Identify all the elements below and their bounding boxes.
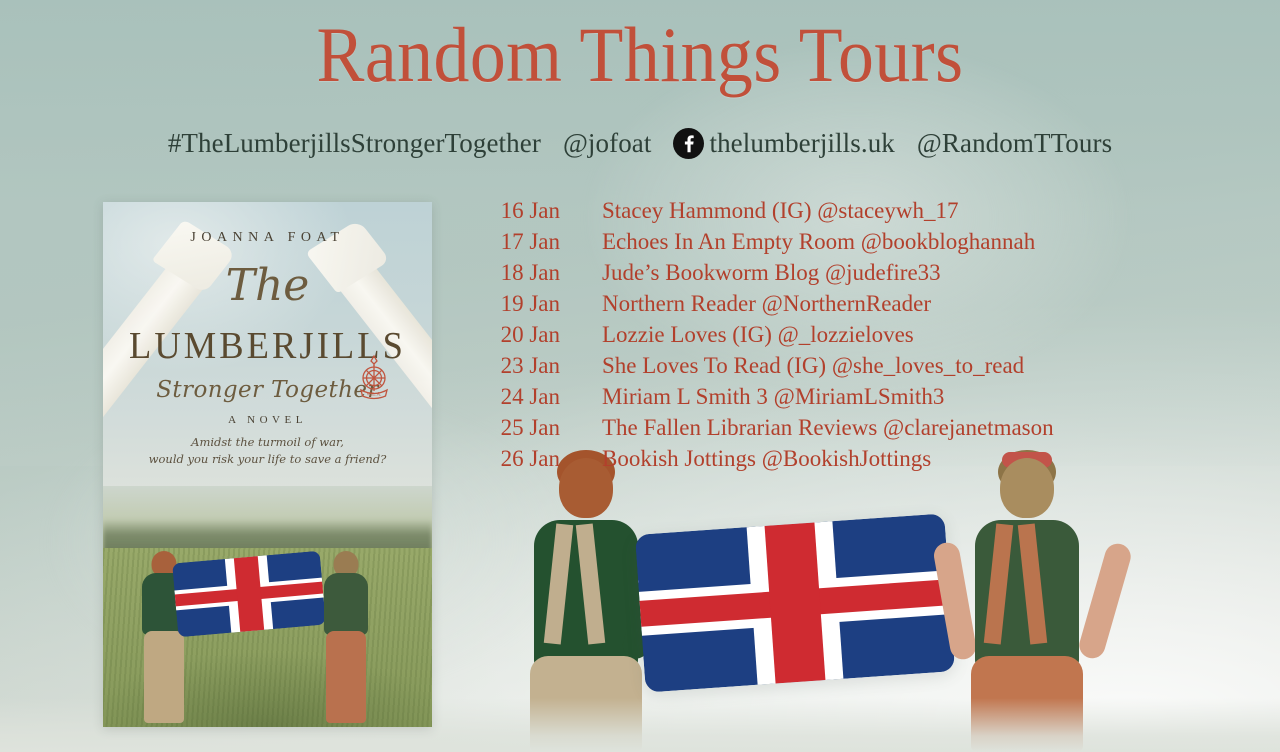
hashtag-label: #TheLumberjillsStrongerTogether — [168, 128, 541, 159]
schedule-blogger: Bookish Jottings @BookishJottings — [602, 446, 931, 472]
page-title: Random Things Tours — [51, 14, 1229, 96]
facebook-link[interactable]: thelumberjills.uk — [673, 128, 894, 159]
facebook-icon — [673, 128, 704, 159]
schedule-blogger: Miriam L Smith 3 @MiriamLSmith3 — [602, 384, 944, 410]
cover-typography: JOANNA FOAT The LUMBERJILLS Stronger Tog… — [103, 202, 432, 727]
union-jack-flag-background — [635, 513, 955, 692]
schedule-row: 23 Jan She Loves To Read (IG) @she_loves… — [486, 353, 1186, 384]
tours-handle[interactable]: @RandomTTours — [917, 128, 1112, 159]
womens-land-army-crest-icon: W.L.A. — [355, 354, 393, 400]
schedule-row: 17 Jan Echoes In An Empty Room @bookblog… — [486, 229, 1186, 260]
book-cover[interactable]: JOANNA FOAT The LUMBERJILLS Stronger Tog… — [103, 202, 432, 727]
schedule-row: 18 Jan Jude’s Bookworm Blog @judefire33 — [486, 260, 1186, 291]
cover-author: JOANNA FOAT — [103, 230, 432, 246]
schedule-blogger: The Fallen Librarian Reviews @clarejanet… — [602, 415, 1054, 441]
schedule-date: 25 Jan — [486, 415, 560, 441]
cover-tagline-line2: would you risk your life to save a frien… — [149, 452, 387, 466]
cover-tagline-line1: Amidst the turmoil of war, — [191, 435, 344, 449]
schedule-row: 26 Jan Bookish Jottings @BookishJottings — [486, 446, 1186, 477]
schedule-date: 23 Jan — [486, 353, 560, 379]
author-handle[interactable]: @jofoat — [563, 128, 652, 159]
svg-text:W.L.A.: W.L.A. — [367, 393, 382, 398]
schedule-row: 19 Jan Northern Reader @NorthernReader — [486, 291, 1186, 322]
schedule-blogger: Stacey Hammond (IG) @staceywh_17 — [602, 198, 959, 224]
cover-title-article: The — [103, 264, 432, 308]
schedule-date: 16 Jan — [486, 198, 560, 224]
schedule-date: 20 Jan — [486, 322, 560, 348]
schedule-blogger: She Loves To Read (IG) @she_loves_to_rea… — [602, 353, 1024, 379]
schedule-blogger: Echoes In An Empty Room @bookbloghannah — [602, 229, 1035, 255]
schedule-blogger: Lozzie Loves (IG) @_lozzieloves — [602, 322, 914, 348]
schedule-row: 20 Jan Lozzie Loves (IG) @_lozzieloves — [486, 322, 1186, 353]
social-handles-bar: #TheLumberjillsStrongerTogether @jofoat … — [0, 128, 1280, 159]
tour-poster: Random Things Tours #TheLumberjillsStron… — [0, 0, 1280, 752]
arm-right — [1076, 541, 1134, 662]
schedule-row: 25 Jan The Fallen Librarian Reviews @cla… — [486, 415, 1186, 446]
schedule-date: 26 Jan — [486, 446, 560, 472]
cover-format-label: A NOVEL — [103, 414, 432, 426]
schedule-date: 24 Jan — [486, 384, 560, 410]
schedule-date: 19 Jan — [486, 291, 560, 317]
facebook-page-label: thelumberjills.uk — [709, 128, 894, 159]
cover-tagline: Amidst the turmoil of war, would you ris… — [103, 434, 432, 469]
tour-schedule-list: 16 Jan Stacey Hammond (IG) @staceywh_17 … — [486, 198, 1186, 477]
schedule-row: 24 Jan Miriam L Smith 3 @MiriamLSmith3 — [486, 384, 1186, 415]
schedule-date: 17 Jan — [486, 229, 560, 255]
schedule-blogger: Northern Reader @NorthernReader — [602, 291, 931, 317]
schedule-row: 16 Jan Stacey Hammond (IG) @staceywh_17 — [486, 198, 1186, 229]
schedule-blogger: Jude’s Bookworm Blog @judefire33 — [602, 260, 941, 286]
schedule-date: 18 Jan — [486, 260, 560, 286]
union-jack-icon — [635, 513, 955, 692]
